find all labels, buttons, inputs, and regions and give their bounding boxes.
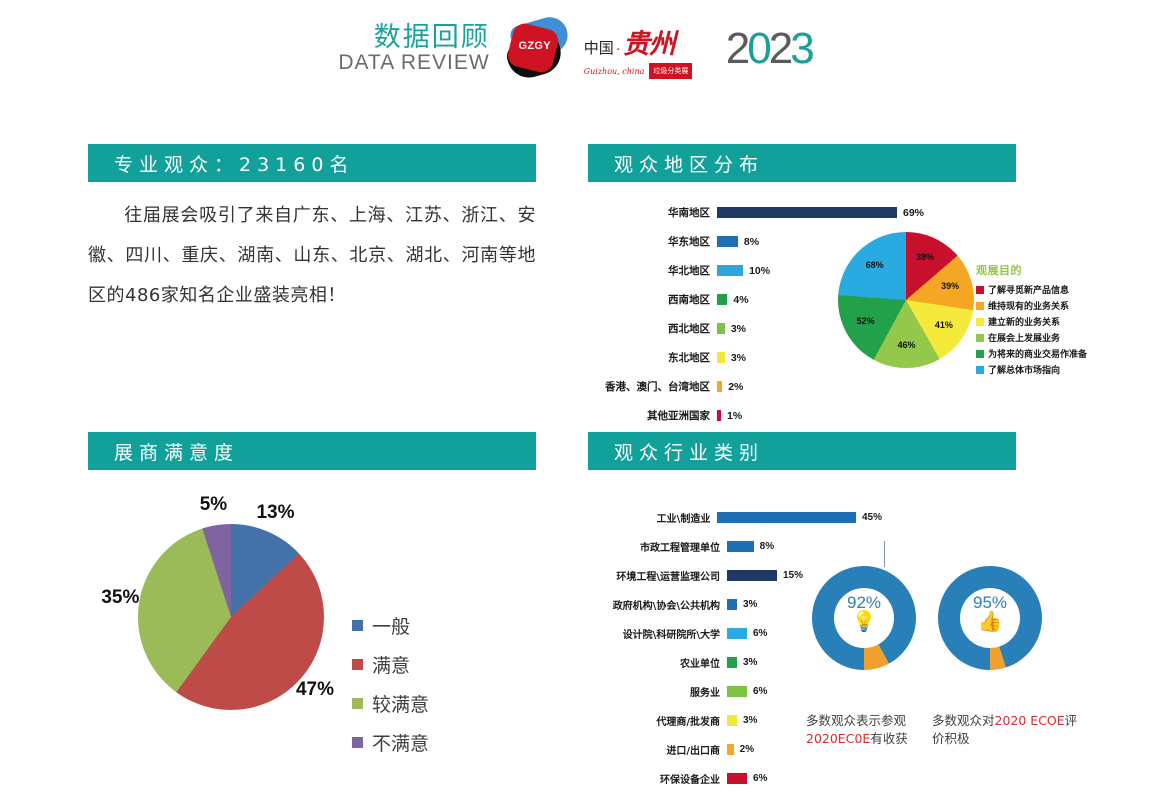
gzgy-logo-icon: GZGY bbox=[504, 18, 570, 80]
bar-category-label: 环保设备企业 bbox=[592, 771, 720, 786]
legend-item: 了解寻觅新产品信息 bbox=[976, 283, 1087, 296]
donut-caption: 多数观众对2020 ECOE评价积极 bbox=[932, 712, 1082, 748]
legend-item: 满意 bbox=[352, 651, 429, 678]
slide-root: 数据回顾 DATA REVIEW GZGY 中国 · 贵州 Guizhou, c… bbox=[0, 0, 1150, 796]
bar-value-label: 45% bbox=[862, 512, 882, 523]
donut-center: 92%💡 bbox=[834, 588, 894, 648]
legend-swatch bbox=[352, 737, 363, 748]
purpose-legend: 观展目的了解寻觅新产品信息维持现有的业务关系建立新的业务关系在展会上发展业务为将… bbox=[976, 262, 1087, 379]
bar-value-label: 69% bbox=[903, 207, 924, 219]
bar-value-label: 3% bbox=[743, 599, 757, 610]
bar-category-label: 工业\制造业 bbox=[592, 510, 710, 525]
bar-value-label: 15% bbox=[783, 570, 803, 581]
header-title-cn: 数据回顾 bbox=[338, 24, 489, 52]
donut-caption-part-a: 多数观众表示参观 bbox=[806, 713, 906, 728]
donut-caption-highlight: 2020 ECOE bbox=[995, 713, 1065, 728]
legend-swatch bbox=[352, 659, 363, 670]
bar-fill bbox=[717, 381, 722, 392]
thumbs-up-icon: 👍 bbox=[978, 612, 1003, 632]
bar-fill bbox=[717, 512, 856, 523]
legend-item: 不满意 bbox=[352, 729, 429, 756]
pie-slice-label: 35% bbox=[94, 587, 146, 609]
bar-fill bbox=[727, 686, 747, 697]
legend-label: 了解总体市场指向 bbox=[988, 363, 1060, 376]
bar-fill bbox=[717, 236, 738, 247]
bar-value-label: 1% bbox=[727, 410, 742, 422]
legend-swatch bbox=[976, 334, 984, 342]
pie-slice-label: 5% bbox=[187, 494, 239, 516]
bar-value-label: 8% bbox=[744, 236, 759, 248]
legend-label: 为将来的商业交易作准备 bbox=[988, 347, 1087, 360]
donut-center: 95%👍 bbox=[960, 588, 1020, 648]
bar-row: 华南地区69% bbox=[592, 198, 932, 227]
bar-category-label: 农业单位 bbox=[592, 655, 720, 670]
panel-title-region: 观众地区分布 bbox=[588, 144, 1016, 182]
pie-slice-label: 46% bbox=[893, 340, 921, 350]
year-digit-3: 2 bbox=[769, 24, 790, 73]
bar-category-label: 东北地区 bbox=[592, 350, 710, 365]
bar-category-label: 进口/出口商 bbox=[592, 742, 720, 757]
bar-row: 环保设备企业6% bbox=[592, 764, 882, 793]
bar-value-label: 4% bbox=[733, 294, 748, 306]
bar-category-label: 服务业 bbox=[592, 684, 720, 699]
legend-swatch bbox=[976, 318, 984, 326]
legend-swatch bbox=[976, 366, 984, 374]
bar-category-label: 华北地区 bbox=[592, 263, 710, 278]
logo-province: 贵州 bbox=[623, 22, 675, 61]
logo-badge: 垃圾分类展 bbox=[649, 63, 692, 79]
header-title-en: DATA REVIEW bbox=[338, 52, 489, 74]
donut-caption-part-b: 有收获 bbox=[870, 731, 908, 746]
bar-value-label: 6% bbox=[753, 686, 767, 697]
legend-label: 满意 bbox=[372, 651, 410, 678]
year-2023-logo: 2023 bbox=[726, 27, 812, 71]
panel-title-satisfaction: 展商满意度 bbox=[88, 432, 536, 470]
pie-slice-label: 47% bbox=[289, 679, 341, 701]
pie-slice-label: 68% bbox=[861, 260, 889, 270]
bar-category-label: 政府机构\协会\公共机构 bbox=[592, 597, 720, 612]
visitors-paragraph-text: 往届展会吸引了来自广东、上海、江苏、浙江、安徽、四川、重庆、湖南、山东、北京、湖… bbox=[88, 205, 536, 306]
bar-fill bbox=[727, 744, 734, 755]
bar-fill bbox=[717, 323, 725, 334]
bar-category-label: 西北地区 bbox=[592, 321, 710, 336]
logo-mark-text: GZGY bbox=[512, 40, 558, 52]
bar-fill bbox=[717, 410, 721, 421]
guizhou-wordmark: 中国 · 贵州 Guizhou, china 垃圾分类展 bbox=[584, 22, 712, 76]
donut-chart: 92%💡 bbox=[812, 566, 916, 670]
bar-fill bbox=[727, 541, 754, 552]
logo-pinyin: Guizhou, china bbox=[584, 67, 645, 76]
bar-value-label: 3% bbox=[731, 352, 746, 364]
bar-category-label: 香港、澳门、台湾地区 bbox=[592, 379, 710, 394]
legend-item: 为将来的商业交易作准备 bbox=[976, 347, 1087, 360]
bar-row: 香港、澳门、台湾地区2% bbox=[592, 372, 932, 401]
year-digit-1: 2 bbox=[726, 24, 747, 73]
legend-label: 建立新的业务关系 bbox=[988, 315, 1060, 328]
logo-dot: · bbox=[616, 40, 621, 57]
bar-category-label: 华南地区 bbox=[592, 205, 710, 220]
pie-slice-label: 13% bbox=[249, 502, 301, 524]
logo-cn-prefix: 中国 bbox=[584, 37, 614, 58]
bar-fill bbox=[727, 570, 777, 581]
bar-category-label: 华东地区 bbox=[592, 234, 710, 249]
donut-chart: 95%👍 bbox=[938, 566, 1042, 670]
bar-row: 其他亚洲国家1% bbox=[592, 401, 932, 430]
bar-row: 服务业6% bbox=[592, 677, 882, 706]
bar-fill bbox=[727, 715, 737, 726]
lightbulb-icon: 💡 bbox=[852, 612, 877, 632]
bar-value-label: 3% bbox=[731, 323, 746, 335]
bar-category-label: 西南地区 bbox=[592, 292, 710, 307]
page-header: 数据回顾 DATA REVIEW GZGY 中国 · 贵州 Guizhou, c… bbox=[0, 14, 1150, 84]
bar-category-label: 市政工程管理单位 bbox=[592, 539, 720, 554]
bar-value-label: 3% bbox=[743, 715, 757, 726]
panel-title-industry: 观众行业类别 bbox=[588, 432, 1016, 470]
panel-title-region-text: 观众地区分布 bbox=[614, 150, 764, 177]
pie-slice-label: 39% bbox=[936, 281, 964, 291]
pie-slice-label: 41% bbox=[930, 320, 958, 330]
bar-fill bbox=[717, 352, 725, 363]
legend-label: 一般 bbox=[372, 612, 410, 639]
bar-category-label: 代理商/批发商 bbox=[592, 713, 720, 728]
panel-title-satisfaction-text: 展商满意度 bbox=[114, 438, 239, 465]
bar-category-label: 环境工程\运营监理公司 bbox=[592, 568, 720, 583]
bar-value-label: 2% bbox=[728, 381, 743, 393]
year-digit-4: 3 bbox=[790, 24, 811, 73]
donut-caption-part-a: 多数观众对 bbox=[932, 713, 995, 728]
pie-slice-label: 52% bbox=[852, 316, 880, 326]
bar-category-label: 设计院\科研院所\大学 bbox=[592, 626, 720, 641]
legend-label: 较满意 bbox=[372, 690, 429, 717]
legend-item: 在展会上发展业务 bbox=[976, 331, 1087, 344]
bar-value-label: 6% bbox=[753, 773, 767, 784]
bar-fill bbox=[727, 628, 747, 639]
bar-value-label: 2% bbox=[740, 744, 754, 755]
satisfaction-legend: 一般满意较满意不满意 bbox=[352, 612, 429, 768]
bar-value-label: 10% bbox=[749, 265, 770, 277]
bar-category-label: 其他亚洲国家 bbox=[592, 408, 710, 423]
bar-fill bbox=[727, 599, 737, 610]
legend-label: 了解寻觅新产品信息 bbox=[988, 283, 1069, 296]
legend-label: 维持现有的业务关系 bbox=[988, 299, 1069, 312]
bar-fill bbox=[717, 294, 727, 305]
header-title-block: 数据回顾 DATA REVIEW bbox=[338, 24, 489, 74]
bar-row: 市政工程管理单位8% bbox=[592, 532, 882, 561]
legend-swatch bbox=[976, 286, 984, 294]
bar-row: 工业\制造业45% bbox=[592, 503, 882, 532]
bar-fill bbox=[727, 657, 737, 668]
visitors-paragraph: 往届展会吸引了来自广东、上海、江苏、浙江、安徽、四川、重庆、湖南、山东、北京、湖… bbox=[88, 196, 536, 316]
legend-label: 不满意 bbox=[372, 729, 429, 756]
bar-fill bbox=[727, 773, 747, 784]
donut-percent: 92% bbox=[847, 594, 881, 611]
panel-title-visitors-text: 专业观众：23160名 bbox=[114, 150, 354, 177]
pie-slice-label: 39% bbox=[911, 252, 939, 262]
donut-tick-line bbox=[884, 541, 885, 567]
bar-value-label: 6% bbox=[753, 628, 767, 639]
legend-swatch bbox=[976, 350, 984, 358]
bar-fill bbox=[717, 265, 743, 276]
legend-item: 了解总体市场指向 bbox=[976, 363, 1087, 376]
legend-item: 较满意 bbox=[352, 690, 429, 717]
panel-title-visitors: 专业观众：23160名 bbox=[88, 144, 536, 182]
purpose-legend-title: 观展目的 bbox=[976, 262, 1087, 278]
donut-percent: 95% bbox=[973, 594, 1007, 611]
bar-value-label: 3% bbox=[743, 657, 757, 668]
legend-swatch bbox=[352, 620, 363, 631]
bar-value-label: 8% bbox=[760, 541, 774, 552]
legend-label: 在展会上发展业务 bbox=[988, 331, 1060, 344]
year-digit-2: 0 bbox=[747, 24, 768, 73]
panel-title-industry-text: 观众行业类别 bbox=[614, 438, 764, 465]
legend-item: 建立新的业务关系 bbox=[976, 315, 1087, 328]
legend-item: 维持现有的业务关系 bbox=[976, 299, 1087, 312]
legend-item: 一般 bbox=[352, 612, 429, 639]
bar-fill bbox=[717, 207, 897, 218]
donut-caption-highlight: 2020EC0E bbox=[806, 731, 870, 746]
legend-swatch bbox=[352, 698, 363, 709]
legend-swatch bbox=[976, 302, 984, 310]
